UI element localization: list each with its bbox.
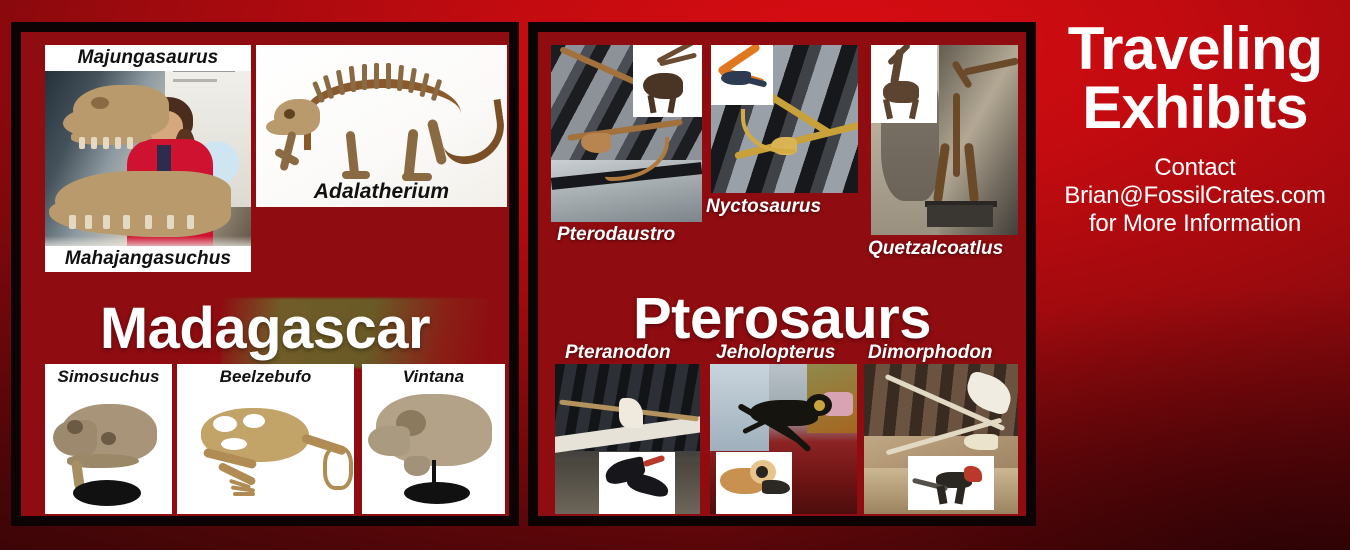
card-vintana[interactable]: Vintana xyxy=(362,364,505,514)
card-jeholopterus[interactable] xyxy=(710,364,857,514)
card-nyctosaurus[interactable] xyxy=(711,45,858,193)
card-pterodaustro[interactable] xyxy=(551,45,702,222)
caption-dimorphodon: Dimorphodon xyxy=(868,342,993,364)
panel-pterosaurs[interactable]: Pterodaustro Nyctosaurus xyxy=(528,22,1036,526)
photo-majungasaurus-mahajangasuchus xyxy=(45,45,251,272)
inset-jeholopterus-model xyxy=(716,452,792,514)
caption-majungasaurus: Majungasaurus xyxy=(45,45,251,71)
right-text-column: Traveling Exhibits Contact Brian@FossilC… xyxy=(1042,6,1348,306)
caption-jeholopterus: Jeholopterus xyxy=(716,342,835,364)
caption-beelzebufo: Beelzebufo xyxy=(177,364,354,390)
exhibit-banner: Majungasaurus Mahajangasuchus xyxy=(0,0,1350,550)
inset-pterodaustro-model xyxy=(633,45,702,117)
caption-nyctosaurus: Nyctosaurus xyxy=(706,196,821,218)
inset-nyctosaurus-model xyxy=(711,45,773,105)
panel-madagascar[interactable]: Majungasaurus Mahajangasuchus xyxy=(11,22,519,526)
caption-adalatherium: Adalatherium xyxy=(256,177,507,207)
contact-email[interactable]: Brian@FossilCrates.com xyxy=(1042,182,1348,210)
caption-quetzalcoatlus: Quetzalcoatlus xyxy=(868,238,1003,260)
inset-quetzalcoatlus-model xyxy=(871,45,937,123)
caption-simosuchus: Simosuchus xyxy=(45,364,172,390)
headline: Traveling Exhibits xyxy=(1042,20,1348,138)
inset-dimorphodon-model xyxy=(908,456,994,510)
card-majungasaurus-mahajangasuchus[interactable]: Majungasaurus Mahajangasuchus xyxy=(45,45,251,272)
card-beelzebufo[interactable]: Beelzebufo xyxy=(177,364,354,514)
card-adalatherium[interactable]: Adalatherium xyxy=(256,45,507,207)
caption-pterodaustro: Pterodaustro xyxy=(557,224,675,246)
section-title-madagascar: Madagascar xyxy=(21,300,509,358)
headline-line-2: Exhibits xyxy=(1042,79,1348,138)
inset-pteranodon-model xyxy=(599,452,675,514)
card-simosuchus[interactable]: Simosuchus xyxy=(45,364,172,514)
contact-block: Contact Brian@FossilCrates.com for More … xyxy=(1042,154,1348,238)
caption-pteranodon: Pteranodon xyxy=(565,342,671,364)
panel-madagascar-inner: Majungasaurus Mahajangasuchus xyxy=(21,32,509,516)
card-dimorphodon[interactable] xyxy=(864,364,1018,514)
caption-vintana: Vintana xyxy=(362,364,505,390)
caption-mahajangasuchus: Mahajangasuchus xyxy=(45,246,251,272)
section-title-pterosaurs: Pterosaurs xyxy=(538,290,1026,348)
contact-line-3: for More Information xyxy=(1042,210,1348,238)
panel-pterosaurs-inner: Pterodaustro Nyctosaurus xyxy=(538,32,1026,516)
headline-line-1: Traveling xyxy=(1042,20,1348,79)
card-pteranodon[interactable] xyxy=(555,364,700,514)
contact-line-1: Contact xyxy=(1042,154,1348,182)
card-quetzalcoatlus[interactable] xyxy=(871,45,1018,235)
